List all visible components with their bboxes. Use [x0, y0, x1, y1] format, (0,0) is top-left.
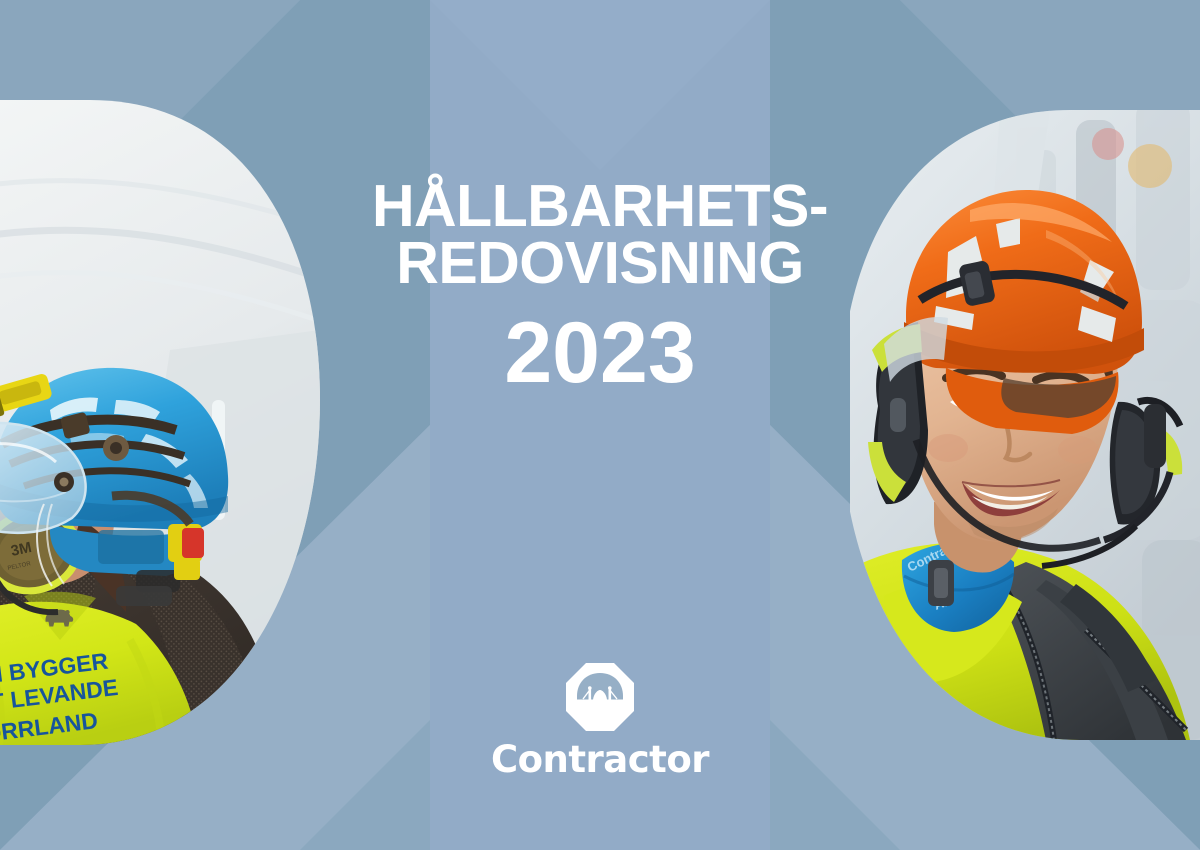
- cover-title-block: HÅLLBARHETS- REDOVISNING 2023: [0, 178, 1200, 398]
- report-cover: VI BYGGER ETT LEVANDE NORRLAND: [0, 0, 1200, 850]
- brand-wordmark: Contractor: [0, 741, 1200, 778]
- brand-logo-block: Contractor: [0, 661, 1200, 778]
- title-line-1: HÅLLBARHETS-: [0, 178, 1200, 235]
- title-year: 2023: [0, 310, 1200, 398]
- contractor-bridge-octagon-logo: [564, 661, 636, 733]
- title-line-2: REDOVISNING: [0, 235, 1200, 292]
